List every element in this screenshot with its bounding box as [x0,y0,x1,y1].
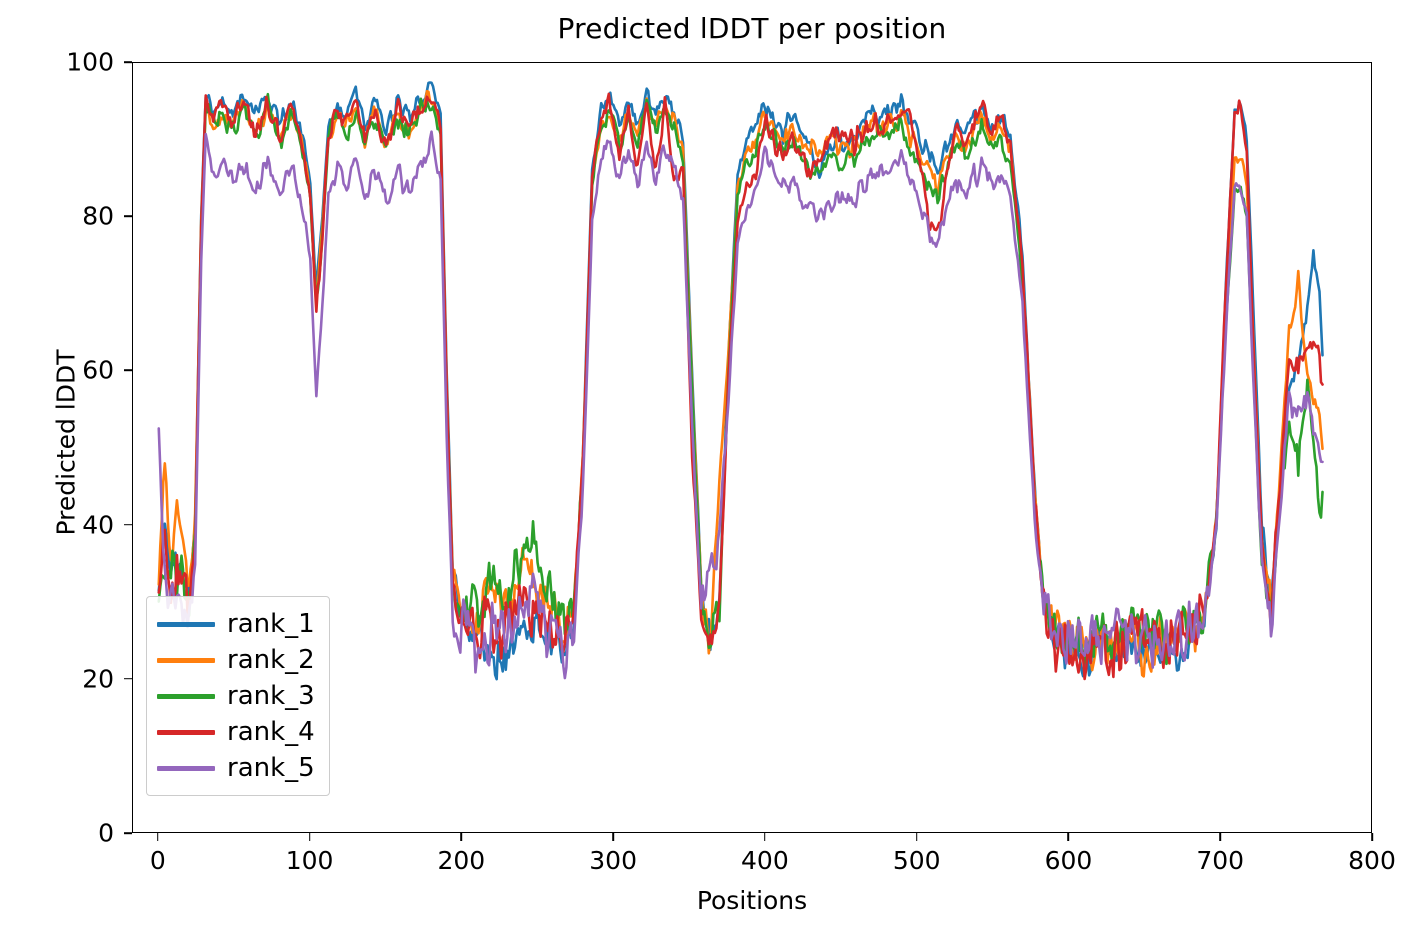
y-axis-tick-marks [124,62,132,833]
x-tick-label: 100 [286,846,334,876]
x-tick-label: 400 [741,846,789,876]
y-tick-label: 40 [82,512,114,537]
legend-color-swatch [157,766,215,771]
y-tick-mark [124,678,132,680]
legend-label: rank_5 [227,755,315,781]
legend-color-swatch [157,658,215,663]
x-tick-label: 500 [893,846,941,876]
y-tick-mark [124,832,132,834]
legend-item-rank_4[interactable]: rank_4 [157,714,315,750]
x-tick-mark [764,833,766,841]
x-tick-label: 200 [437,846,485,876]
legend-label: rank_1 [227,611,315,637]
y-axis-tick-labels: 020406080100 [46,62,114,833]
legend-color-swatch [157,622,215,627]
y-tick-label: 60 [82,358,114,383]
y-tick-label: 0 [98,821,114,846]
legend-item-rank_5[interactable]: rank_5 [157,750,315,786]
y-tick-mark [124,370,132,372]
x-tick-label: 700 [1196,846,1244,876]
x-tick-mark [916,833,918,841]
legend-item-rank_1[interactable]: rank_1 [157,606,315,642]
legend-color-swatch [157,694,215,699]
y-tick-label: 20 [82,666,114,691]
y-tick-mark [124,61,132,63]
legend-label: rank_3 [227,683,315,709]
legend-label: rank_4 [227,719,315,745]
x-tick-mark [461,833,463,841]
legend[interactable]: rank_1rank_2rank_3rank_4rank_5 [146,596,330,796]
x-tick-mark [157,833,159,841]
x-axis-tick-marks [132,833,1372,842]
chart-figure: Predicted lDDT per position Predicted lD… [0,0,1407,939]
x-tick-label: 0 [150,846,166,876]
series-line-rank_3 [159,94,1323,664]
legend-color-swatch [157,730,215,735]
x-axis-label: Positions [132,886,1372,915]
x-tick-mark [309,833,311,841]
y-tick-label: 80 [82,204,114,229]
x-tick-label: 300 [589,846,637,876]
y-tick-mark [124,215,132,217]
legend-item-rank_3[interactable]: rank_3 [157,678,315,714]
x-tick-label: 800 [1348,846,1396,876]
x-tick-mark [1371,833,1373,841]
x-tick-mark [612,833,614,841]
y-tick-label: 100 [66,50,114,75]
x-tick-label: 600 [1045,846,1093,876]
legend-item-rank_2[interactable]: rank_2 [157,642,315,678]
y-tick-mark [124,524,132,526]
x-axis-tick-labels: 0100200300400500600700800 [132,846,1372,880]
page-title: Predicted lDDT per position [132,12,1372,45]
y-axis-label-wrapper: Predicted lDDT [0,62,40,833]
legend-label: rank_2 [227,647,315,673]
x-tick-mark [1068,833,1070,841]
series-line-rank_1 [159,82,1323,679]
x-tick-mark [1219,833,1221,841]
series-line-rank_5 [159,132,1323,678]
